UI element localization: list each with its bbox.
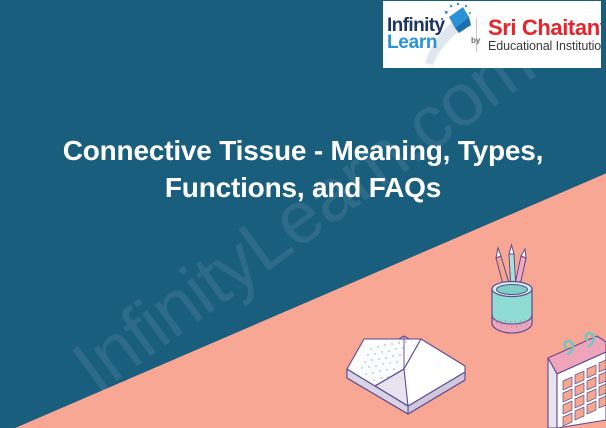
logo-connector-by: by — [471, 36, 480, 45]
poster-canvas: InfinityLearn.com — [0, 0, 606, 428]
partner-name: Sri Chaitanya — [488, 16, 601, 39]
infinity-learn-wordmark: Infinity Learn — [387, 17, 444, 52]
learn-word: Learn — [387, 34, 444, 51]
infinity-learn-logo: Infinity Learn — [383, 1, 475, 68]
brand-logo-lockup[interactable]: Infinity Learn by Sri Chaitanya Educatio… — [383, 1, 601, 68]
page-title: Connective Tissue - Meaning, Types, Func… — [0, 132, 606, 206]
sri-chaitanya-logo: Sri Chaitanya Educational Institutions — [478, 16, 601, 53]
partner-subtitle: Educational Institutions — [488, 39, 601, 53]
